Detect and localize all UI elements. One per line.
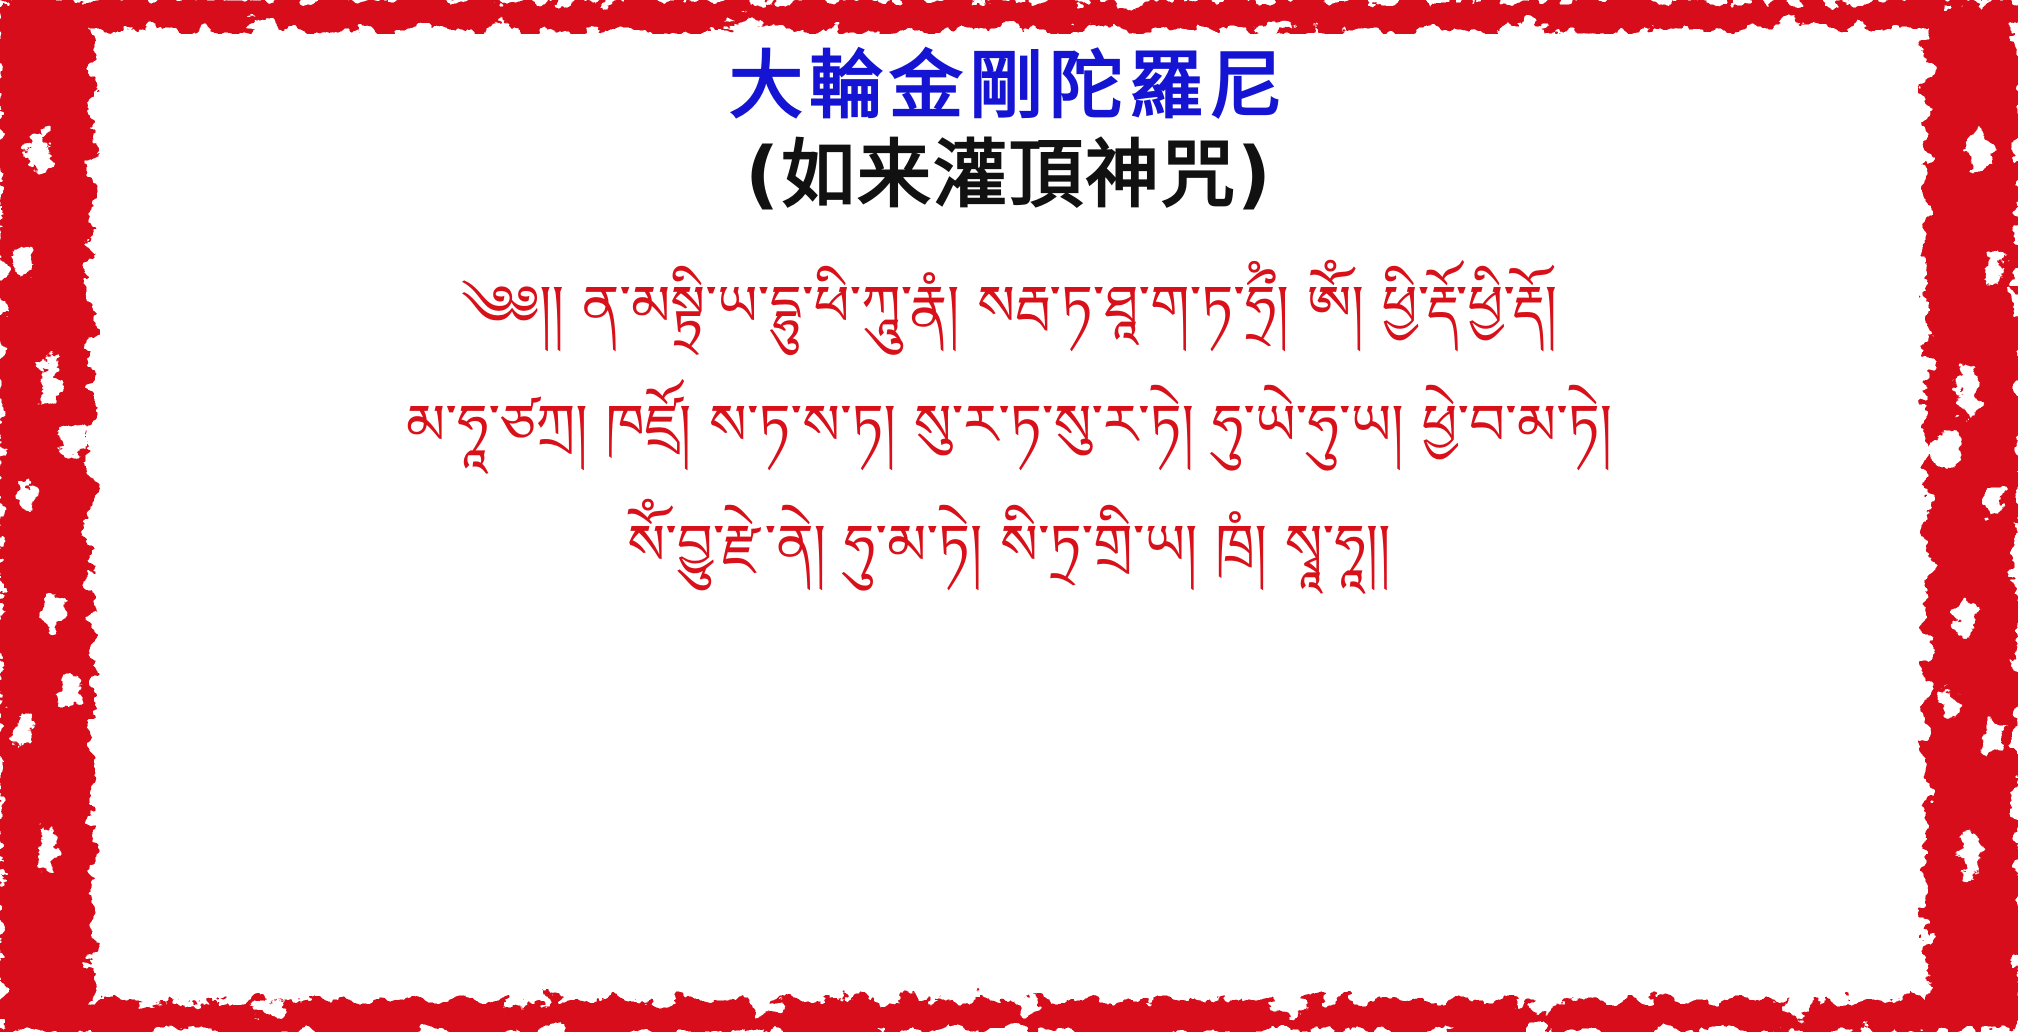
mantra-line: སོཾ་བྱུ་རྫེ་ནེ། ཧུ་མ་ཏེ། སི་ཏྲ་གྲི་ཡ། ཁྲ… — [627, 508, 1390, 584]
mantra-line: མ་ཧཱ་ཙཀྲ། ཁཛྲོ། ས་ཏ་ས་ཏ། སུ་ར་ཏ་སུ་ར་ཏེ།… — [406, 388, 1612, 464]
page-title: 大輪金剛陀羅尼 — [100, 48, 1918, 126]
mantra-line: ༄༅།། ན་མསྟྲི་ཡ་དྷུ་ཕི་ཀཱུ་རྣཾ། སརྦ་ཏ་ཐཱ་… — [461, 269, 1557, 345]
dharani-card: 大輪金剛陀羅尼 (如来灌頂神咒) ༄༅།། ན་མསྟྲི་ཡ་དྷུ་ཕི་ཀ… — [0, 0, 2018, 1032]
mantra-block: ༄༅།། ན་མསྟྲི་ཡ་དྷུ་ཕི་ཀཱུ་རྣཾ། སརྦ་ཏ་ཐཱ་… — [100, 269, 1918, 584]
card-content: 大輪金剛陀羅尼 (如来灌頂神咒) ༄༅།། ན་མསྟྲི་ཡ་དྷུ་ཕི་ཀ… — [100, 34, 1918, 964]
page-subtitle: (如来灌頂神咒) — [100, 134, 1918, 217]
title-block: 大輪金剛陀羅尼 (如来灌頂神咒) — [100, 48, 1918, 217]
